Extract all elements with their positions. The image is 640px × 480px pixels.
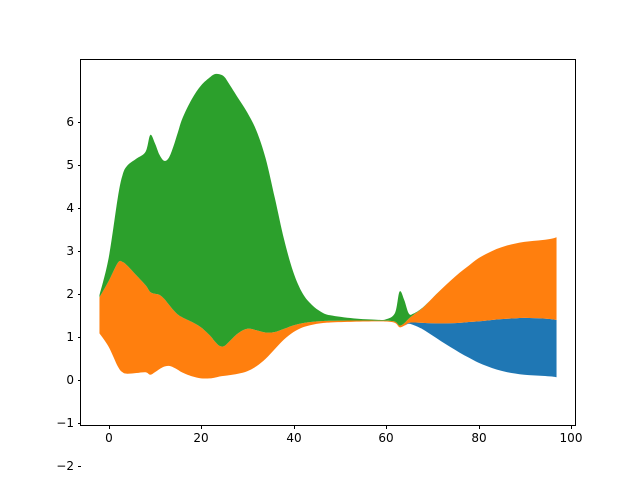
ytick-mark [78, 165, 82, 166]
ytick-mark [78, 251, 82, 252]
xtick-label: 20 [193, 432, 208, 444]
xtick-label: 60 [378, 432, 393, 444]
ytick-mark [78, 423, 82, 424]
xtick-mark [571, 425, 572, 429]
ytick-mark [78, 294, 82, 295]
plot-axes: −2 −1 0 1 2 3 4 5 6 0 20 40 60 80 100 [80, 59, 576, 426]
ytick-label: 4 [66, 202, 74, 214]
xtick-label: 40 [286, 432, 301, 444]
stackplot-canvas [81, 60, 575, 425]
ytick-mark [78, 208, 82, 209]
ytick-label: 0 [66, 374, 74, 386]
ytick-label: 6 [66, 116, 74, 128]
ytick-label: −2 [56, 460, 74, 472]
ytick-label: 2 [66, 288, 74, 300]
xtick-label: 80 [471, 432, 486, 444]
xtick-mark [201, 425, 202, 429]
ytick-mark [78, 337, 82, 338]
ytick-label: −1 [56, 417, 74, 429]
matplotlib-figure: −2 −1 0 1 2 3 4 5 6 0 20 40 60 80 100 [0, 0, 640, 480]
ytick-label: 3 [66, 245, 74, 257]
xtick-mark [294, 425, 295, 429]
stack-bands [99, 74, 556, 379]
xtick-label: 0 [105, 432, 113, 444]
ytick-label: 1 [66, 331, 74, 343]
ytick-mark [78, 466, 82, 467]
ytick-mark [78, 380, 82, 381]
xtick-mark [479, 425, 480, 429]
xtick-mark [109, 425, 110, 429]
ytick-mark [78, 122, 82, 123]
xtick-mark [386, 425, 387, 429]
ytick-label: 5 [66, 159, 74, 171]
xtick-label: 100 [560, 432, 583, 444]
